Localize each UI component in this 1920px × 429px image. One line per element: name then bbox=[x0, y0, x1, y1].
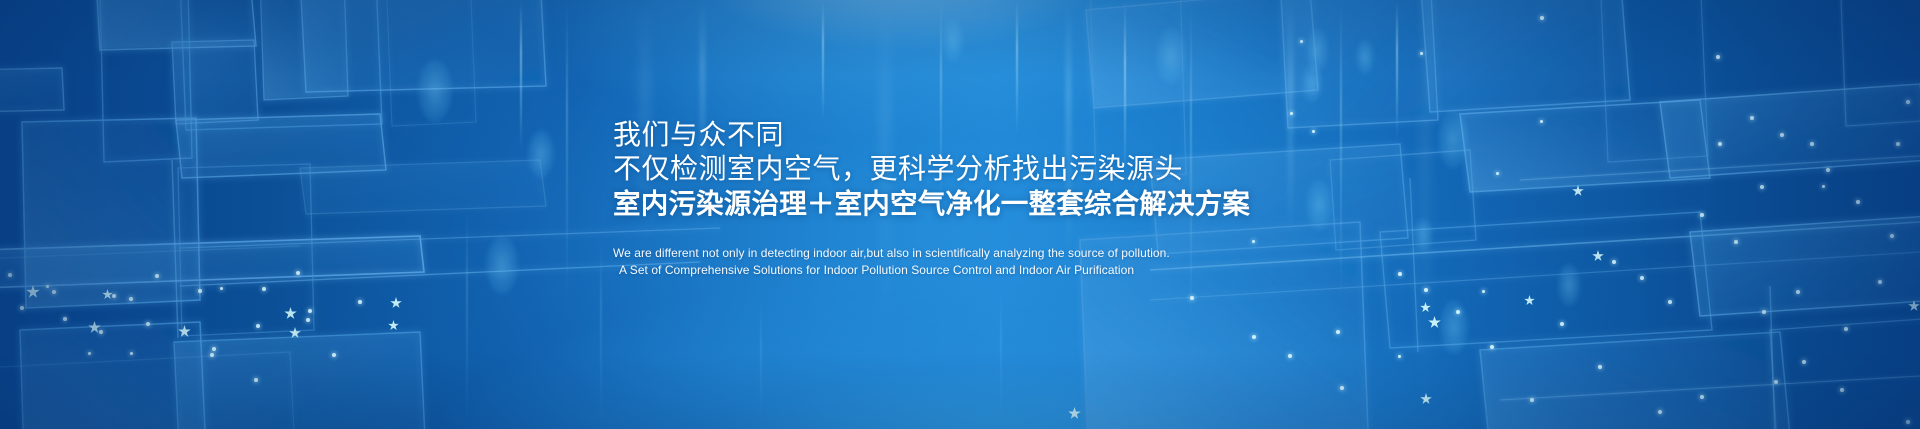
sparkle-dot bbox=[212, 347, 216, 351]
headline-line-2: 不仅检测室内空气，更科学分析找出污染源头 bbox=[613, 152, 1373, 186]
sparkle-dot bbox=[262, 287, 266, 291]
sparkle-dot bbox=[1482, 290, 1485, 293]
sparkle-dot bbox=[146, 322, 150, 326]
sparkle-dot bbox=[99, 330, 103, 334]
sparkle-dot bbox=[1658, 410, 1662, 414]
bokeh-blob bbox=[942, 18, 964, 62]
sparkle-dot bbox=[1890, 234, 1894, 238]
sparkle-dot bbox=[1530, 398, 1534, 402]
sparkle-dot bbox=[308, 309, 312, 313]
sparkle-dot bbox=[1774, 380, 1778, 384]
sparkle-dot bbox=[1190, 296, 1194, 300]
sparkle-dot bbox=[129, 297, 133, 301]
bokeh-blob bbox=[1558, 264, 1580, 306]
sparkle-dot bbox=[1750, 116, 1754, 120]
sparkle-dot bbox=[1340, 386, 1344, 390]
bokeh-blob bbox=[1156, 28, 1186, 84]
sparkle-dot bbox=[1398, 355, 1401, 358]
hero-banner: 我们与众不同 不仅检测室内空气，更科学分析找出污染源头 室内污染源治理＋室内空气… bbox=[0, 0, 1920, 429]
sparkle-dot bbox=[155, 274, 159, 278]
sparkle-dot bbox=[256, 324, 260, 328]
bokeh-blob bbox=[528, 130, 554, 178]
sparkle-dot bbox=[296, 271, 300, 275]
sparkle-dot bbox=[1490, 345, 1494, 349]
sparkle-dot bbox=[1496, 172, 1499, 175]
sparkle-dot bbox=[1796, 290, 1800, 294]
sparkle-dot bbox=[1822, 185, 1825, 188]
sparkle-dot bbox=[1716, 55, 1720, 59]
sparkle-dot bbox=[63, 317, 67, 321]
sparkle-dot bbox=[1424, 288, 1428, 292]
sparkle-dot bbox=[8, 273, 12, 277]
sparkle-dot bbox=[1336, 330, 1340, 334]
sparkle-dot bbox=[1760, 185, 1764, 189]
headline-line-3: 室内污染源治理＋室内空气净化一整套综合解决方案 bbox=[613, 186, 1373, 222]
sparkle-dot bbox=[1856, 200, 1860, 204]
sparkle-dot bbox=[1840, 388, 1844, 392]
sparkle-dot bbox=[1802, 360, 1806, 364]
sparkle-dot bbox=[1734, 240, 1738, 244]
sparkle-dot bbox=[1612, 260, 1616, 264]
sparkle-dot bbox=[46, 285, 49, 288]
sparkle-dot bbox=[1288, 354, 1292, 358]
bokeh-blob bbox=[1440, 300, 1468, 354]
sparkle-dot bbox=[1456, 310, 1460, 314]
sparkle-dot bbox=[1420, 52, 1423, 55]
sparkle-dot bbox=[358, 300, 362, 304]
sparkle-dot bbox=[306, 318, 310, 322]
sparkle-dot bbox=[112, 294, 116, 298]
subheadline-line-2: A Set of Comprehensive Solutions for Ind… bbox=[613, 262, 1373, 279]
sparkle-dot bbox=[1398, 272, 1402, 276]
sparkle-dot bbox=[1540, 16, 1544, 20]
sparkle-dot bbox=[198, 289, 202, 293]
sparkle-dot bbox=[254, 378, 258, 382]
sparkle-dot bbox=[1598, 365, 1602, 369]
sparkle-dot bbox=[1700, 395, 1704, 399]
sparkle-dot bbox=[1896, 142, 1900, 146]
bokeh-blob bbox=[1414, 218, 1432, 252]
sparkle-dot bbox=[1290, 112, 1293, 115]
bokeh-blob bbox=[1302, 64, 1322, 102]
sparkle-dot bbox=[1718, 142, 1722, 146]
sparkle-dot bbox=[1906, 100, 1910, 104]
sparkle-dot bbox=[1252, 335, 1256, 339]
sparkle-dot bbox=[1826, 168, 1830, 172]
sparkle-dot bbox=[20, 306, 24, 310]
subheadline-line-1: We are different not only in detecting i… bbox=[613, 245, 1373, 262]
sparkle-dot bbox=[1780, 133, 1784, 137]
sparkle-dot bbox=[1878, 280, 1882, 284]
sparkle-dot bbox=[210, 353, 214, 357]
sparkle-dot bbox=[1762, 310, 1766, 314]
sparkle-dot bbox=[332, 353, 336, 357]
sparkle-dot bbox=[1700, 213, 1704, 217]
geo-panel-group-right bbox=[1380, 0, 1920, 429]
sparkle-dot bbox=[88, 352, 91, 355]
banner-copy: 我们与众不同 不仅检测室内空气，更科学分析找出污染源头 室内污染源治理＋室内空气… bbox=[613, 118, 1373, 279]
sparkle-dot bbox=[1810, 142, 1814, 146]
headline-line-1: 我们与众不同 bbox=[613, 118, 1373, 152]
sparkle-dot bbox=[1668, 300, 1672, 304]
sparkle-dot bbox=[1560, 322, 1564, 326]
sparkle-dot bbox=[52, 290, 56, 294]
sparkle-dot bbox=[1640, 276, 1644, 280]
sparkle-dot bbox=[220, 287, 223, 290]
bokeh-blob bbox=[1438, 110, 1468, 168]
sparkle-dot bbox=[130, 352, 133, 355]
sparkle-dot bbox=[1906, 420, 1910, 424]
subheadline-block: We are different not only in detecting i… bbox=[613, 245, 1373, 279]
bokeh-blob bbox=[486, 236, 518, 294]
bokeh-blob bbox=[1356, 40, 1374, 74]
sparkle-dot bbox=[1300, 40, 1303, 43]
sparkle-dot bbox=[1540, 120, 1543, 123]
sparkle-dot bbox=[1844, 327, 1848, 331]
bokeh-blob bbox=[418, 60, 452, 122]
